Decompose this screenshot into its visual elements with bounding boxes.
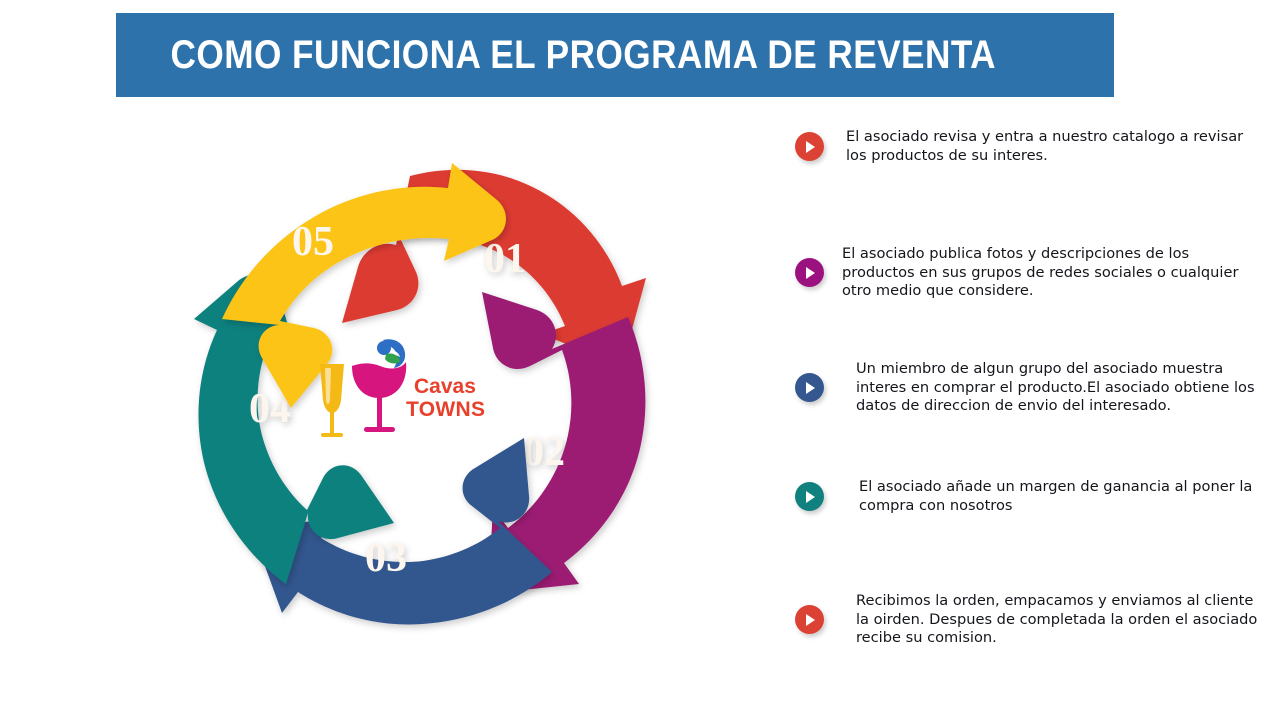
cycle-segment-03[interactable]: 03 <box>260 438 552 625</box>
logo-text-towns: TOWNS <box>406 398 485 421</box>
step-item-3[interactable]: Un miembro de algun grupo del asociado m… <box>795 360 1265 416</box>
step-item-2[interactable]: El asociado publica fotos y descripcione… <box>795 245 1265 301</box>
logo-text-cavas: Cavas <box>414 375 476 398</box>
play-circle-icon[interactable] <box>795 482 824 511</box>
cycle-segment-05-number: 05 <box>292 219 334 265</box>
swirl-icon <box>377 339 405 368</box>
step-item-4[interactable]: El asociado añade un margen de ganancia … <box>795 478 1265 515</box>
step-text-1: El asociado revisa y entra a nuestro cat… <box>846 128 1265 165</box>
play-circle-icon[interactable] <box>795 605 824 634</box>
play-circle-icon[interactable] <box>795 373 824 402</box>
header-bar: COMO FUNCIONA EL PROGRAMA DE REVENTA <box>116 13 1114 97</box>
champagne-flute-icon <box>320 364 344 437</box>
step-item-5[interactable]: Recibimos la orden, empacamos y enviamos… <box>795 592 1265 648</box>
step-text-3: Un miembro de algun grupo del asociado m… <box>856 360 1265 416</box>
cycle-segment-02-number: 02 <box>523 429 565 475</box>
step-text-5: Recibimos la orden, empacamos y enviamos… <box>856 592 1265 648</box>
steps-panel: El asociado revisa y entra a nuestro cat… <box>795 120 1265 680</box>
step-text-2: El asociado publica fotos y descripcione… <box>842 245 1265 301</box>
brand-logo: Cavas TOWNS <box>306 338 486 444</box>
cycle-segment-03-shape <box>260 438 552 625</box>
play-circle-icon[interactable] <box>795 258 824 287</box>
step-text-4: El asociado añade un margen de ganancia … <box>859 478 1265 515</box>
play-circle-icon[interactable] <box>795 132 824 161</box>
step-item-1[interactable]: El asociado revisa y entra a nuestro cat… <box>795 128 1265 165</box>
wine-glass-icon <box>352 362 406 432</box>
cycle-segment-03-number: 03 <box>365 535 407 581</box>
cycle-segment-01-number: 01 <box>484 236 526 282</box>
page-title: COMO FUNCIONA EL PROGRAMA DE REVENTA <box>116 33 996 78</box>
